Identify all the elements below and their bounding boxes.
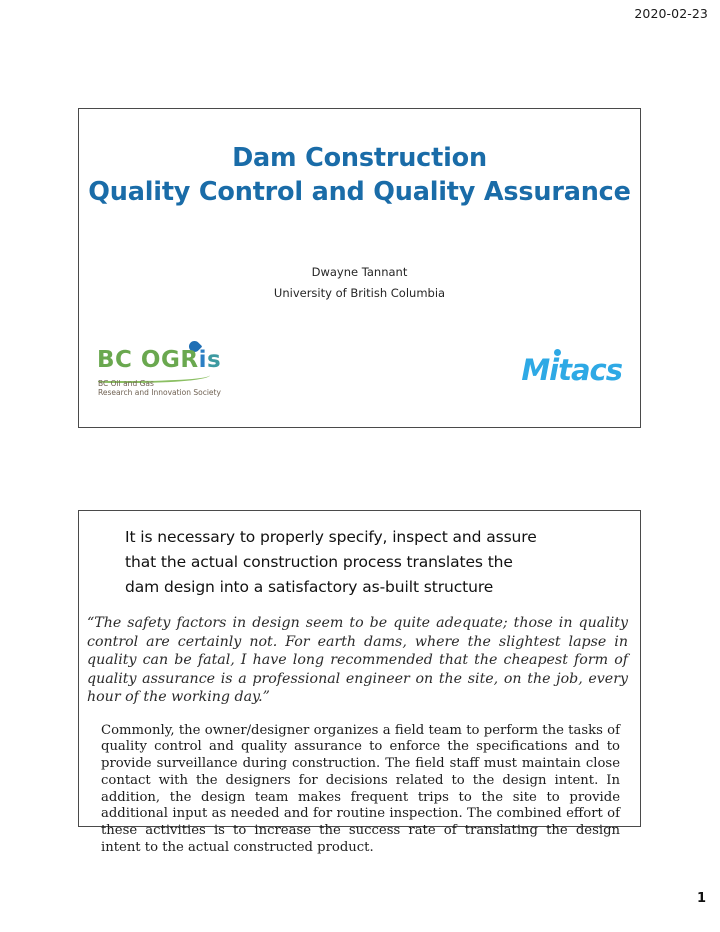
bc-ogris-subtitle-line-2: Research and Innovation Society <box>98 388 221 397</box>
page-number: 1 <box>697 891 706 906</box>
slide-1-title-slide: Dam Construction Quality Control and Qua… <box>78 108 641 428</box>
bc-ogris-logo: BC OGRis BC Oil and Gas Research and Inn… <box>93 339 218 407</box>
slide-title-line-1: Dam Construction <box>79 141 640 175</box>
mitacs-wordmark: Mitacs <box>521 353 622 387</box>
lead-statement-line-1: It is necessary to properly specify, ins… <box>125 525 616 550</box>
author-name: Dwayne Tannant <box>79 267 640 279</box>
mitacs-logo: Mitacs <box>482 347 622 391</box>
logo-row: BC OGRis BC Oil and Gas Research and Inn… <box>79 339 640 409</box>
slide-2-content-slide: It is necessary to properly specify, ins… <box>78 510 641 827</box>
ogris-wordmark-part-3: s <box>207 347 221 373</box>
bc-ogris-subtitle-line-1: BC Oil and Gas <box>98 379 221 388</box>
author-affiliation: University of British Columbia <box>79 288 640 300</box>
document-date: 2020-02-23 <box>634 6 708 21</box>
bc-ogris-subtitle: BC Oil and Gas Research and Innovation S… <box>98 379 221 398</box>
lead-statement-block: It is necessary to properly specify, ins… <box>79 511 640 600</box>
ogris-wordmark-part-1: BC OGR <box>97 347 199 373</box>
author-block: Dwayne Tannant University of British Col… <box>79 267 640 299</box>
title-block: Dam Construction Quality Control and Qua… <box>79 109 640 209</box>
ogris-wordmark-part-2: i <box>199 347 207 373</box>
lead-statement-line-3: dam design into a satisfactory as-built … <box>125 575 616 600</box>
slide-title-line-2: Quality Control and Quality Assurance <box>79 175 640 209</box>
lead-statement-line-2: that the actual construction process tra… <box>125 550 616 575</box>
bc-ogris-wordmark: BC OGRis <box>97 347 221 373</box>
pullquote-text: “The safety factors in design seem to be… <box>87 614 628 706</box>
body-paragraph-text: Commonly, the owner/designer organizes a… <box>101 723 620 857</box>
